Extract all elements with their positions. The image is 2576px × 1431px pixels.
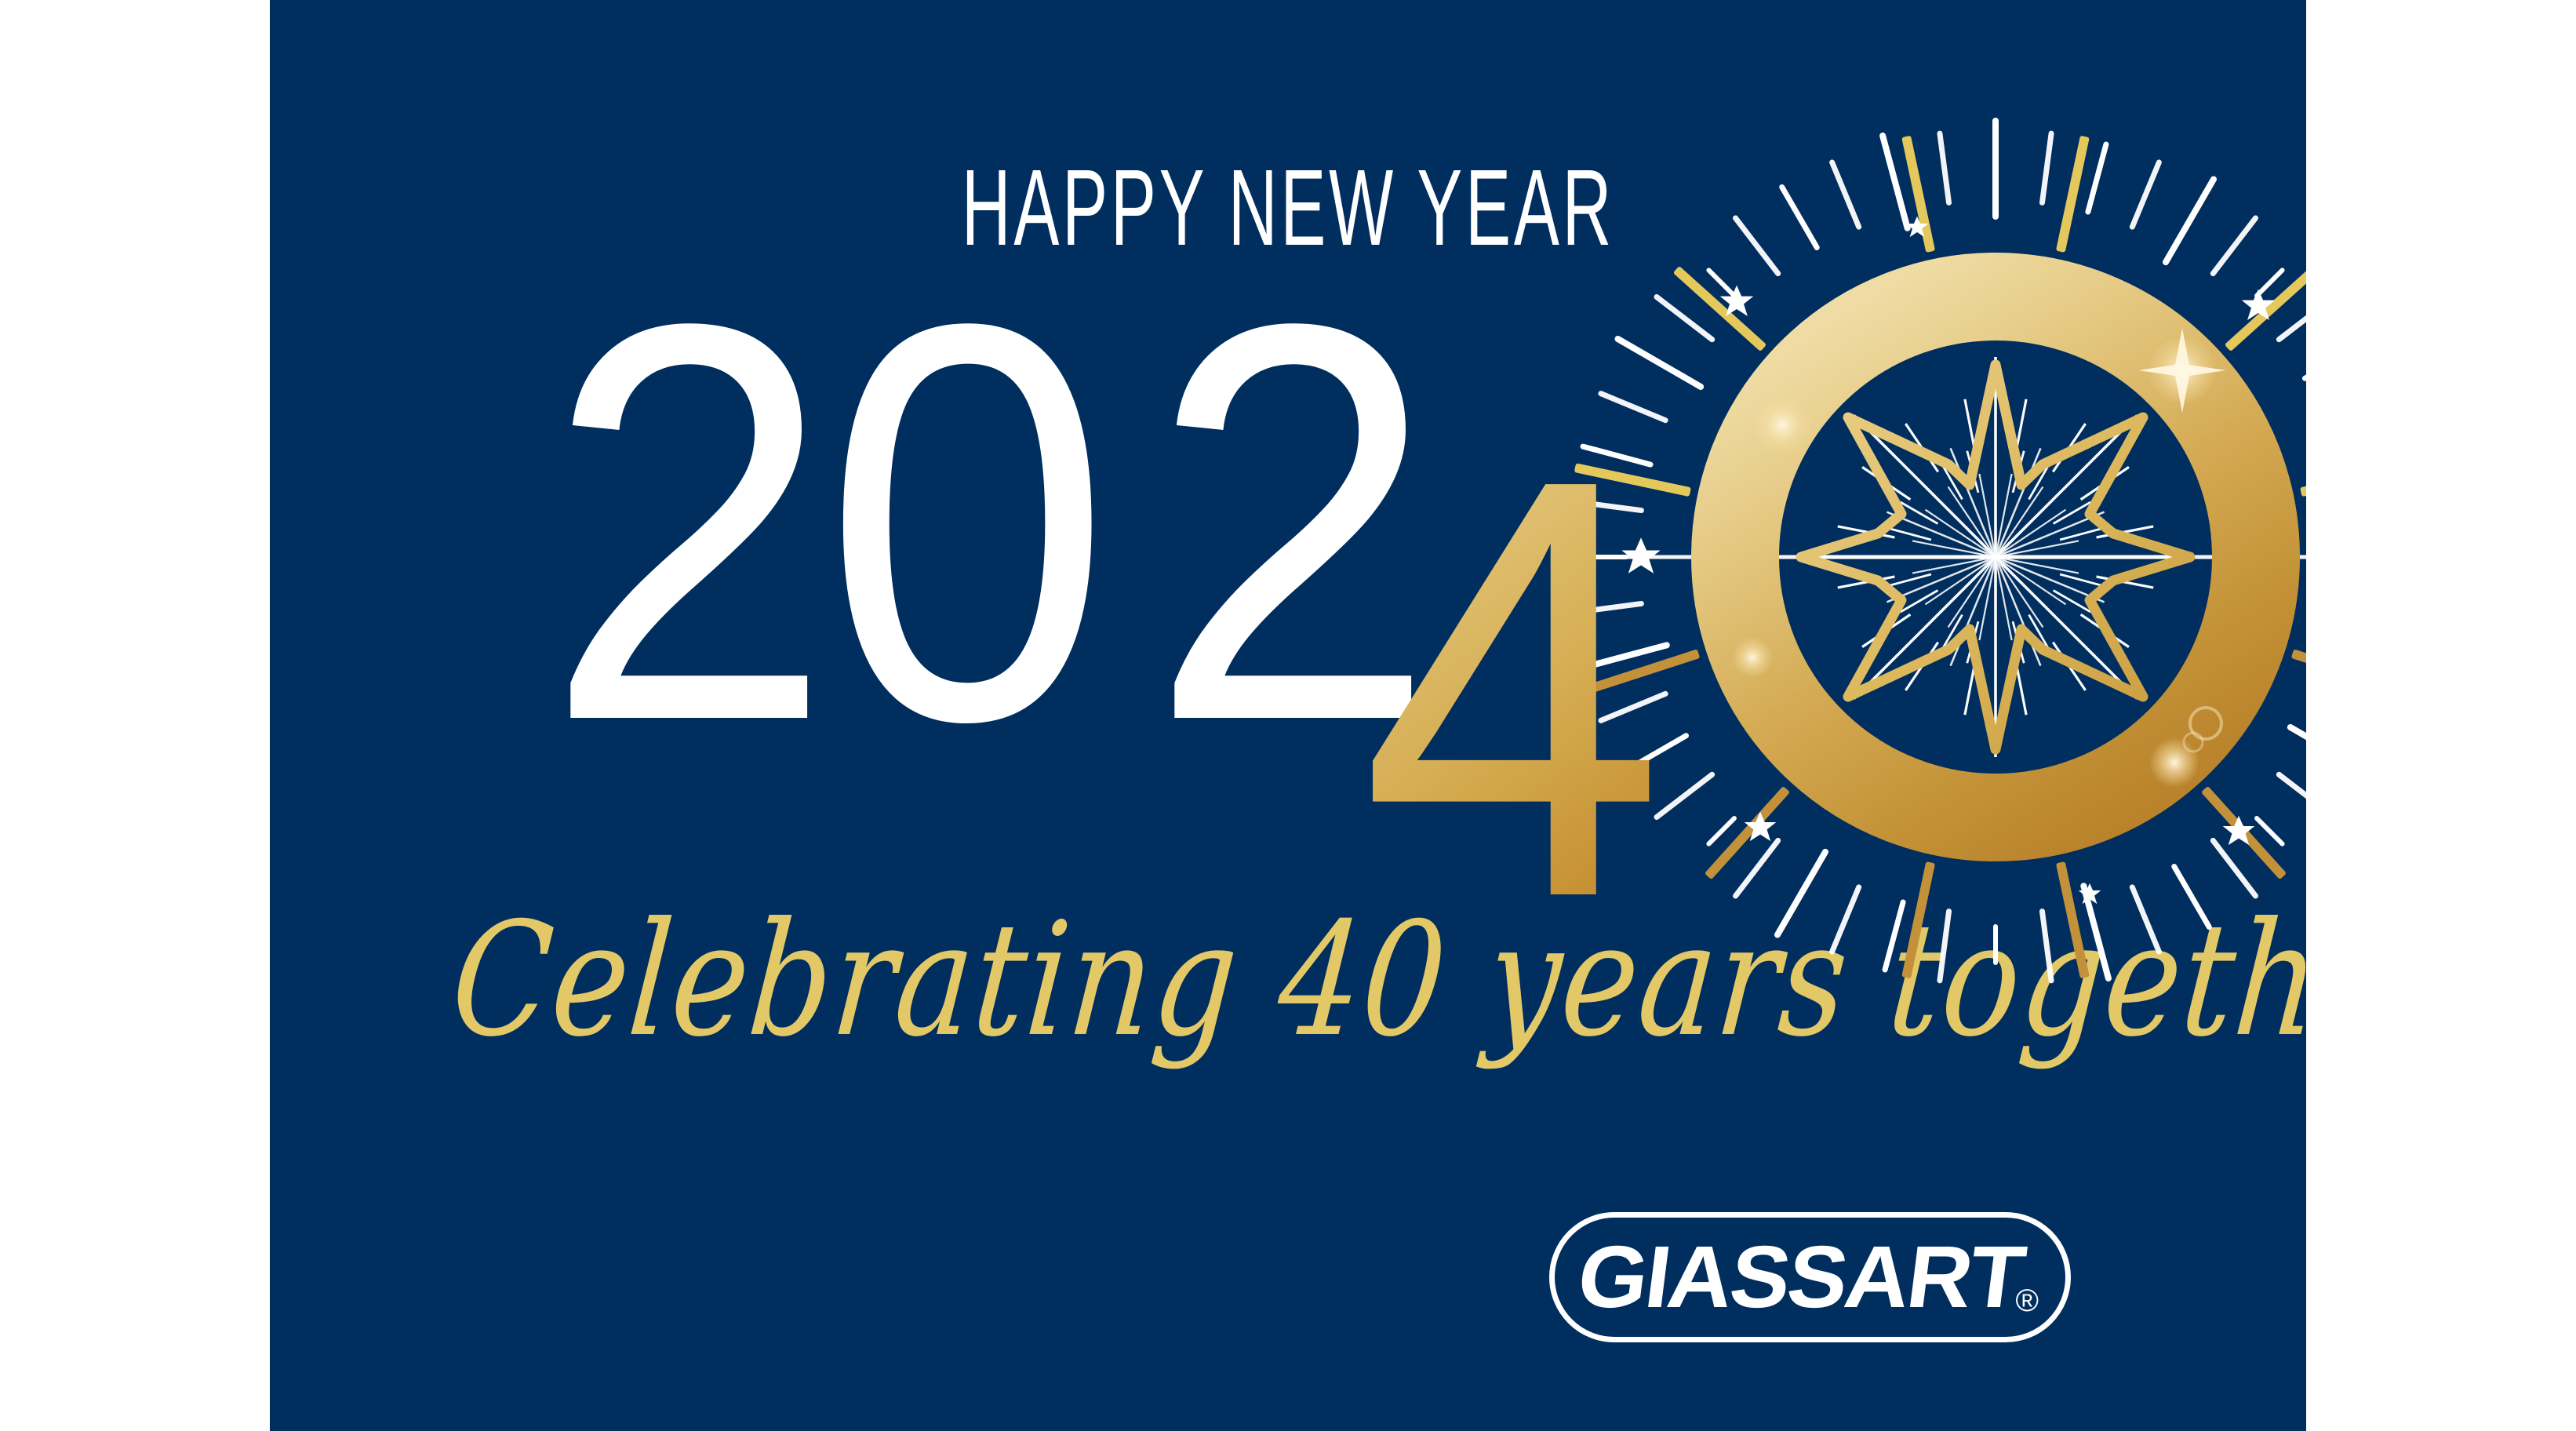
logo-wordmark: GIASSART — [1574, 1233, 2028, 1321]
year-digit-3: 2 — [1148, 240, 1437, 805]
year-digit-2: 0 — [823, 240, 1112, 805]
gold-ring-sunburst-icon — [1541, 102, 2306, 1012]
snowflake-icon — [1790, 351, 2202, 763]
poster-canvas: HAPPY NEW YEAR — [0, 0, 2576, 1431]
year-digit-1: 2 — [544, 240, 833, 805]
brand-logo[interactable]: GIASSART ® — [1549, 1212, 2071, 1342]
registered-trademark-icon: ® — [2016, 1285, 2039, 1316]
navy-panel: HAPPY NEW YEAR — [270, 0, 2306, 1431]
